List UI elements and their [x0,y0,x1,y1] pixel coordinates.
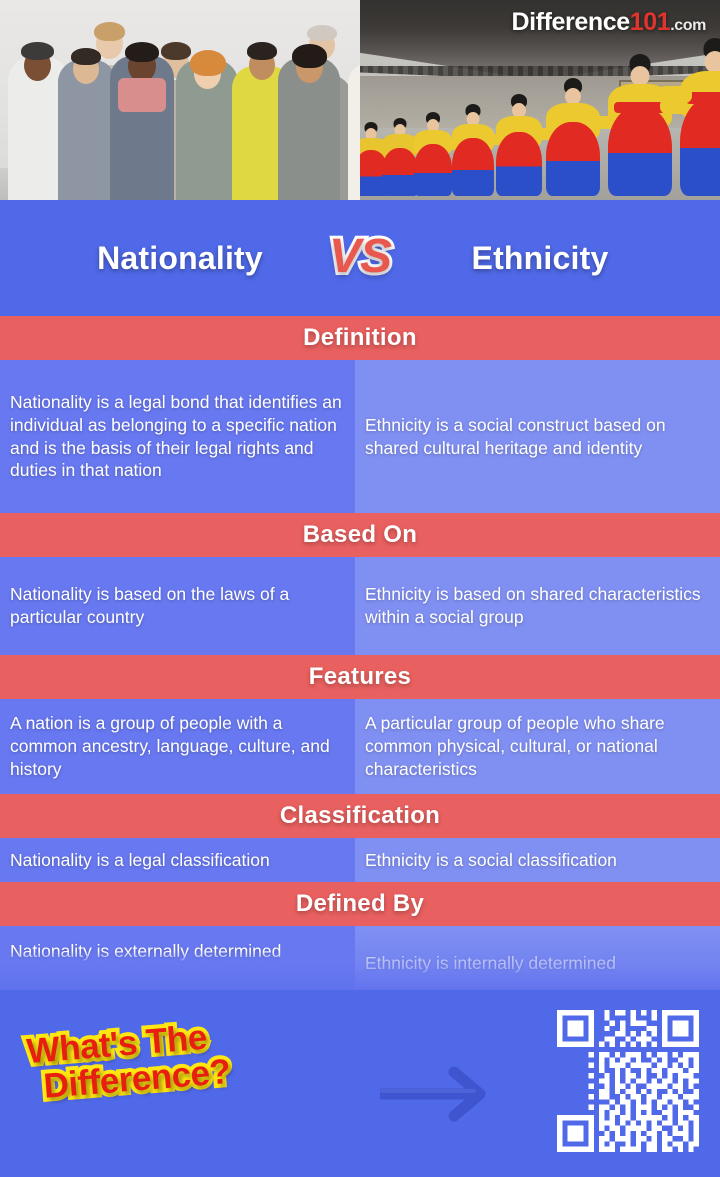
site-logo: Difference101.com [511,8,706,37]
logo-name: Difference [511,8,629,36]
logo-suffix: .com [670,17,706,34]
section-heading-defined-by: Defined By [0,882,720,926]
cell-left-based-on: Nationality is based on the laws of a pa… [0,557,355,655]
title-right: Ethnicity [360,240,720,277]
footer: What's The Difference? [0,990,720,1172]
section-body-classification: Nationality is a legal classification Et… [0,838,720,882]
cta-whats-the-difference: What's The Difference? [25,1018,231,1105]
infographic-page: Difference101.com Nationality Ethnicity … [0,0,720,1177]
cell-left-classification: Nationality is a legal classification [0,838,355,882]
cell-left-definition: Nationality is a legal bond that identif… [0,360,355,513]
section-heading-classification: Classification [0,794,720,838]
section-heading-based-on: Based On [0,513,720,557]
section-heading-definition: Definition [0,316,720,360]
section-body-defined-by: Nationality is externally determined Eth… [0,926,720,990]
arrow-right-icon [380,1066,512,1122]
hero-images: Difference101.com [0,0,720,200]
cell-left-defined-by: Nationality is externally determined [0,926,355,990]
cell-right-based-on: Ethnicity is based on shared characteris… [355,557,720,655]
section-body-features: A nation is a group of people with a com… [0,699,720,794]
section-body-based-on: Nationality is based on the laws of a pa… [0,557,720,655]
cell-right-defined-by: Ethnicity is internally determined [355,926,720,990]
title-band: Nationality Ethnicity VS [0,200,720,316]
cell-left-features: A nation is a group of people with a com… [0,699,355,794]
title-left: Nationality [0,240,360,277]
hero-image-left [0,0,360,200]
photo-diverse-people [0,0,360,200]
logo-number: 101 [630,8,671,36]
cell-right-features: A particular group of people who share c… [355,699,720,794]
section-heading-features: Features [0,655,720,699]
cell-right-definition: Ethnicity is a social construct based on… [355,360,720,513]
cell-right-classification: Ethnicity is a social classification [355,838,720,882]
section-body-definition: Nationality is a legal bond that identif… [0,360,720,513]
vs-badge: VS [329,233,391,281]
qr-code-icon[interactable] [552,1005,704,1157]
